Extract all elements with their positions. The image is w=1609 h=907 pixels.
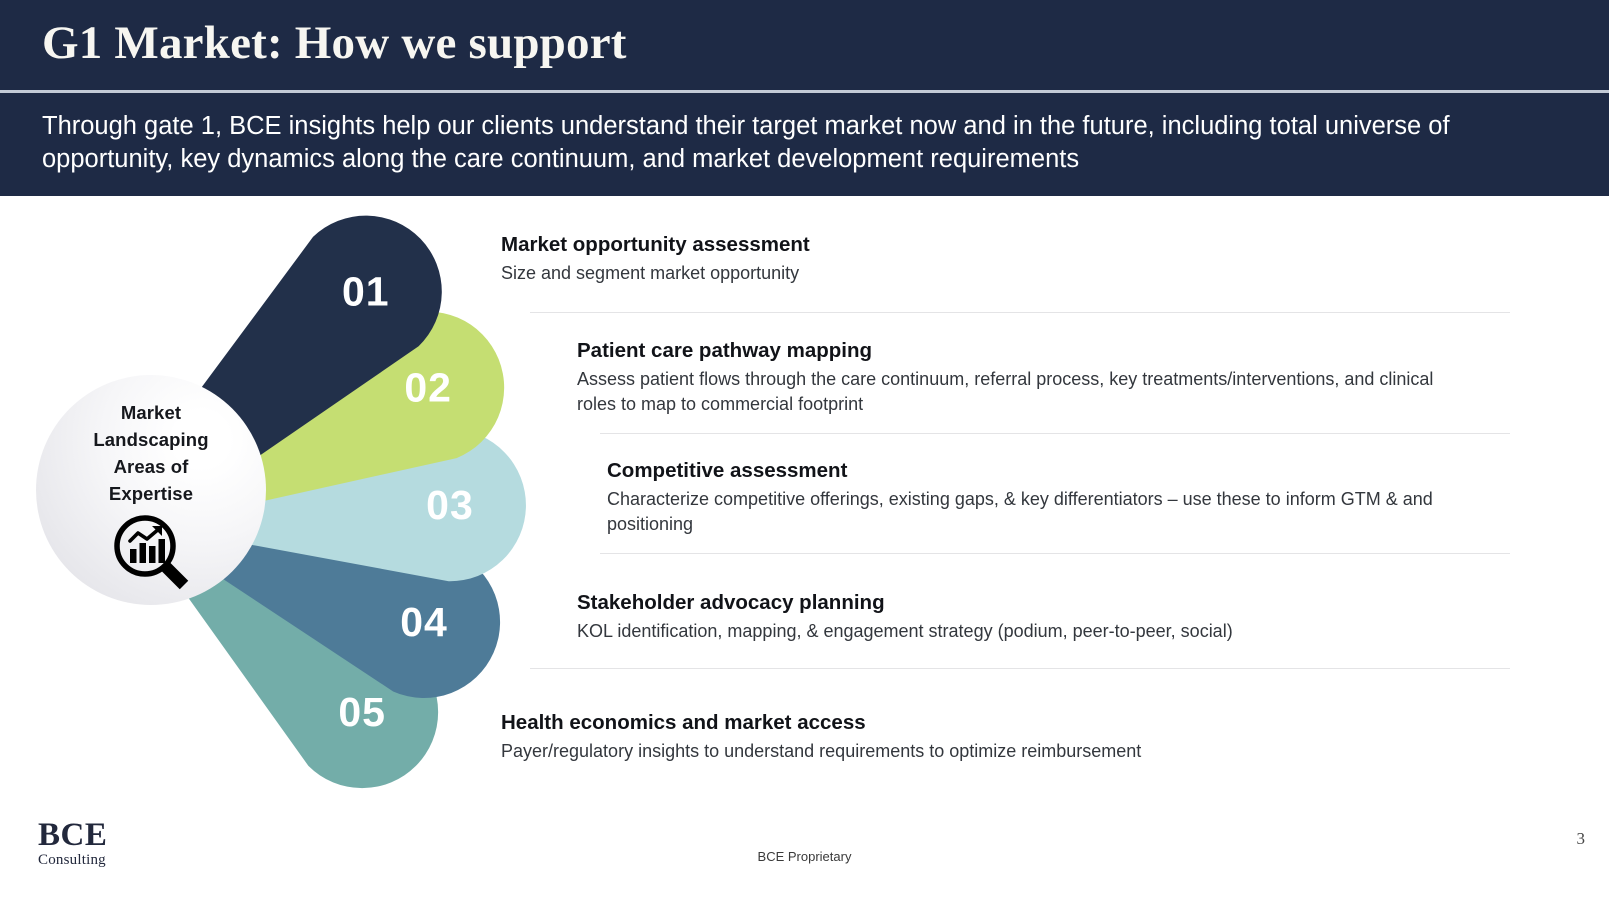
item-description: Payer/regulatory insights to understand … [501,739,1511,764]
title-zone: G1 Market: How we support [0,0,1609,90]
item-separator-3 [600,553,1510,554]
center-label-line-3: Areas of [93,453,208,480]
list-item-02[interactable]: Patient care pathway mapping Assess pati… [577,338,1477,417]
list-item-04[interactable]: Stakeholder advocacy planning KOL identi… [577,590,1487,644]
petal-number-01: 01 [342,269,390,315]
item-description: Characterize competitive offerings, exis… [607,487,1487,537]
center-label-line-2: Landscaping [93,426,208,453]
list-item-03[interactable]: Competitive assessment Characterize comp… [607,458,1487,537]
item-separator-4 [530,668,1510,669]
item-title: Health economics and market access [501,710,1511,736]
item-description: Assess patient flows through the care co… [577,367,1477,417]
item-description: Size and segment market opportunity [501,261,1511,286]
item-description: KOL identification, mapping, & engagemen… [577,619,1487,644]
item-title: Market opportunity assessment [501,232,1511,258]
item-separator-2 [600,433,1510,434]
item-title: Patient care pathway mapping [577,338,1477,364]
item-title: Stakeholder advocacy planning [577,590,1487,616]
logo-wordmark: BCE [38,818,107,852]
list-item-05[interactable]: Health economics and market access Payer… [501,710,1511,764]
item-separator-1 [530,312,1510,313]
center-label-line-4: Expertise [93,480,208,507]
header-divider [0,90,1609,93]
page-number: 3 [1577,829,1586,849]
petal-number-03: 03 [426,482,474,528]
slide-header-band: G1 Market: How we support Through gate 1… [0,0,1609,196]
page-title: G1 Market: How we support [42,16,627,70]
petal-number-04: 04 [400,599,448,645]
item-title: Competitive assessment [607,458,1487,484]
market-research-magnifier-icon [110,511,192,598]
list-item-01[interactable]: Market opportunity assessment Size and s… [501,232,1511,286]
petal-number-02: 02 [404,365,452,411]
petal-number-05: 05 [338,689,386,735]
center-label-line-1: Market [93,399,208,426]
center-hub[interactable]: Market Landscaping Areas of Expertise [36,375,266,605]
center-hub-label: Market Landscaping Areas of Expertise [93,399,208,507]
footer-proprietary-text: BCE Proprietary [0,849,1609,864]
slide-subtitle: Through gate 1, BCE insights help our cl… [42,110,1462,176]
